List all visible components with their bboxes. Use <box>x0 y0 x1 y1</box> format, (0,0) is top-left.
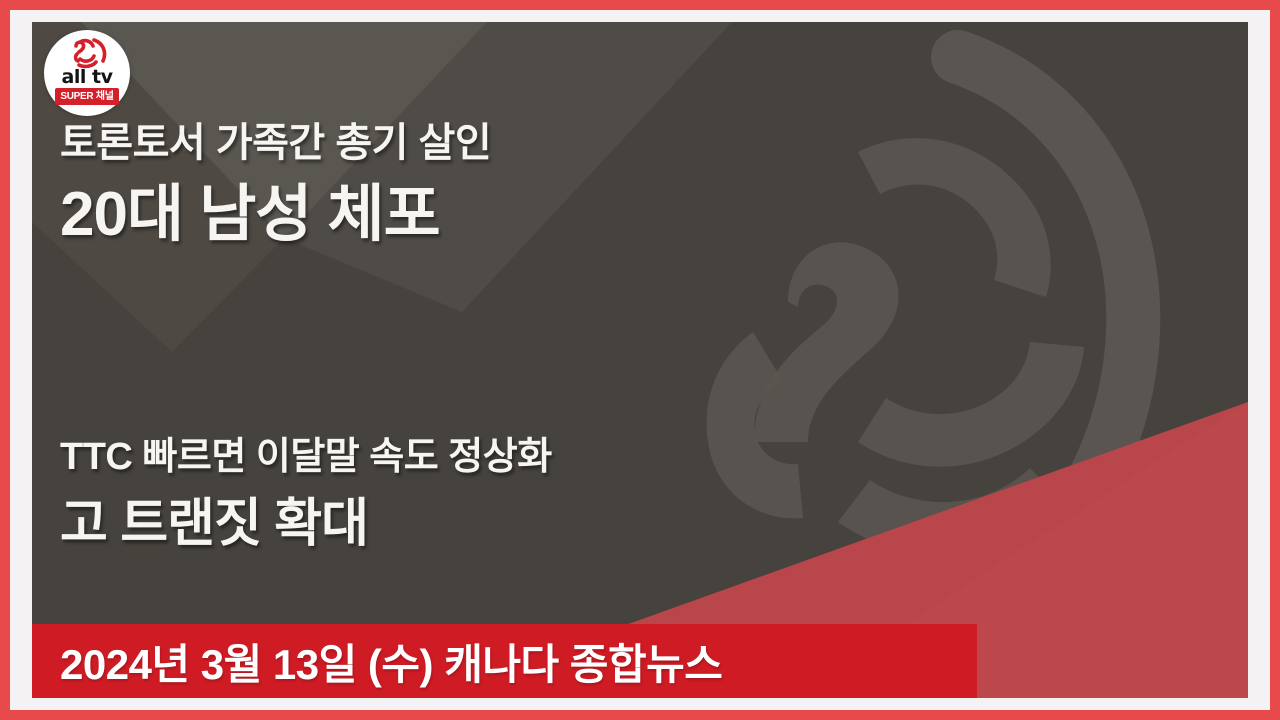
date-banner-text: 2024년 3월 13일 (수) 캐나다 종합뉴스 <box>32 631 722 692</box>
logo-super-banner: SUPER 채널 <box>55 88 119 105</box>
story-block-primary: 토론토서 가족간 총기 살인 20대 남성 체포 <box>60 118 1060 254</box>
news-lower-third-graphic: 토론토서 가족간 총기 살인 20대 남성 체포 TTC 빠르면 이달말 속도 … <box>0 0 1280 720</box>
story-headline-2: 고 트랜짓 확대 <box>60 492 1060 557</box>
date-banner: 2024년 3월 13일 (수) 캐나다 종합뉴스 <box>32 624 977 698</box>
story-kicker-1: 토론토서 가족간 총기 살인 <box>60 118 1060 168</box>
content-stage: 토론토서 가족간 총기 살인 20대 남성 체포 TTC 빠르면 이달말 속도 … <box>32 22 1248 698</box>
story-kicker-2: TTC 빠르면 이달말 속도 정상화 <box>60 434 1060 482</box>
story-headline-1: 20대 남성 체포 <box>60 176 1060 254</box>
stylized-ear-logo-mark-icon <box>64 37 110 69</box>
story-block-secondary: TTC 빠르면 이달말 속도 정상화 고 트랜짓 확대 <box>60 434 1060 557</box>
channel-logo: all tv SUPER 채널 <box>44 30 130 116</box>
logo-wordmark: all tv <box>44 66 130 88</box>
